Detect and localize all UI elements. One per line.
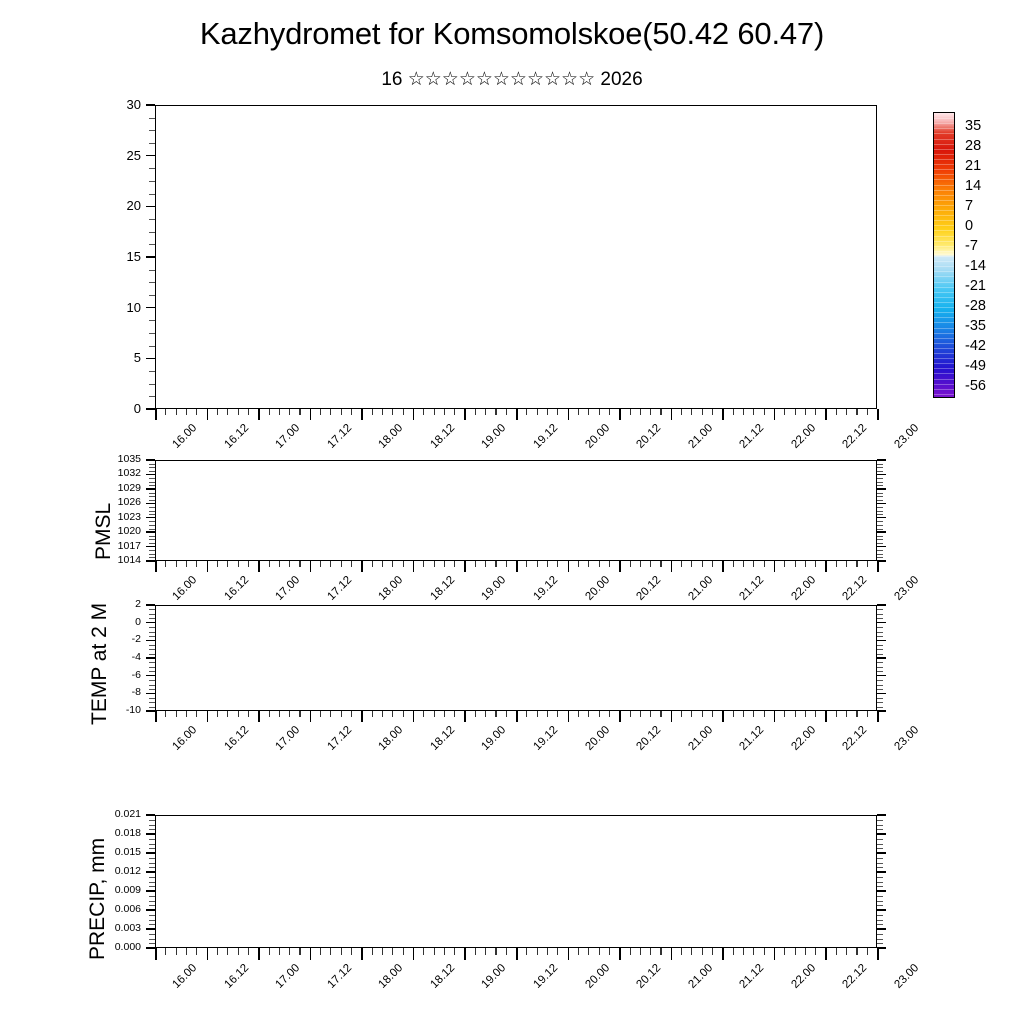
y-axis-minor-tick-right [877, 915, 883, 916]
x-axis-minor-tick [423, 561, 424, 567]
colorbar-band-line [934, 348, 954, 349]
x-axis-tick [774, 409, 776, 420]
x-axis-minor-tick [289, 561, 290, 567]
y-axis-minor-tick [149, 614, 155, 615]
y-axis-minor-tick [149, 680, 155, 681]
y-axis-label: 15 [117, 251, 141, 262]
y-axis-label: 0.006 [99, 904, 141, 915]
x-axis-tick [722, 561, 724, 572]
x-axis-label: 18.12 [428, 574, 457, 603]
x-axis-minor-tick [217, 711, 218, 717]
y-axis-minor-tick-right [877, 820, 883, 821]
colorbar-band-line [934, 174, 954, 175]
x-axis-label: 21.12 [738, 574, 767, 603]
y-axis-minor-tick-right [877, 654, 883, 655]
colorbar-band-line [934, 394, 954, 395]
colorbar-band-line [934, 333, 954, 334]
y-axis-minor-tick [149, 539, 155, 540]
x-axis-minor-tick [289, 948, 290, 955]
x-axis-minor-tick [733, 561, 734, 567]
y-axis-minor-tick-right [877, 482, 883, 483]
y-axis-minor-tick-right [877, 618, 883, 619]
x-axis-minor-tick [681, 561, 682, 567]
x-axis-minor-tick [712, 948, 713, 955]
y-axis-label: -6 [111, 670, 141, 681]
x-axis-minor-tick [733, 409, 734, 415]
x-axis-minor-tick [815, 409, 816, 415]
x-axis-minor-tick [681, 711, 682, 717]
x-axis-minor-tick [764, 561, 765, 567]
x-axis-tick [310, 711, 312, 722]
x-axis-tick [825, 409, 827, 420]
x-axis-minor-tick [279, 409, 280, 415]
x-axis-minor-tick [599, 711, 600, 717]
y-axis-minor-tick-right [877, 464, 883, 465]
y-axis-tick [146, 408, 155, 409]
x-axis-label: 17.12 [325, 574, 354, 603]
x-axis-minor-tick [196, 711, 197, 717]
x-axis-minor-tick [444, 561, 445, 567]
y-axis-minor-tick [149, 478, 155, 479]
x-axis-minor-tick [691, 409, 692, 415]
y-axis-tick [146, 604, 155, 605]
y-axis-minor-tick-right [877, 882, 883, 883]
subtitle-date: 16 ☆☆☆☆☆☆☆☆☆☆☆ 2026 [0, 68, 1024, 91]
x-axis-label: 19.12 [531, 962, 560, 991]
y-axis-tick-right [877, 517, 886, 518]
colorbar-tick-label: -56 [965, 378, 986, 394]
x-axis-label: 19.00 [480, 422, 509, 451]
x-axis-minor-tick [372, 711, 373, 717]
x-axis-minor-tick [578, 409, 579, 415]
y-axis-minor-tick [149, 554, 155, 555]
y-axis-minor-tick [149, 627, 155, 628]
y-axis-tick-right [877, 693, 886, 694]
x-axis-tick [774, 948, 776, 960]
x-axis-minor-tick [475, 409, 476, 415]
y-axis-minor-tick-right [877, 685, 883, 686]
y-axis-minor-tick [149, 536, 155, 537]
x-axis-tick [516, 948, 518, 960]
x-axis-tick [207, 409, 209, 420]
y-axis-tick-right [877, 675, 886, 676]
x-axis-minor-tick [454, 711, 455, 717]
x-axis-minor-tick [238, 561, 239, 567]
y-axis-minor-tick [149, 244, 155, 245]
x-axis-minor-tick [320, 711, 321, 717]
colorbar-band-line [934, 225, 954, 226]
colorbar-band-line [934, 118, 954, 119]
x-axis-minor-tick [764, 711, 765, 717]
y-axis-minor-tick [149, 689, 155, 690]
x-axis-minor-tick [506, 409, 507, 415]
y-axis-minor-tick-right [877, 649, 883, 650]
x-axis-label: 16.00 [170, 574, 199, 603]
x-axis-minor-tick [764, 409, 765, 415]
x-axis-minor-tick [753, 409, 754, 415]
y-axis-tick-right [877, 488, 886, 489]
cross-section-frame [155, 105, 877, 409]
x-axis-label: 19.00 [480, 724, 509, 753]
y-axis-minor-tick [149, 901, 155, 902]
x-axis-minor-tick [702, 711, 703, 717]
weather-forecast-chart: Kazhydromet for Komsomolskoe(50.42 60.47… [0, 0, 1024, 1024]
y-axis-tick [146, 358, 155, 359]
y-axis-label: 0.018 [99, 828, 141, 839]
y-axis-tick [146, 871, 155, 872]
y-axis-minor-tick-right [877, 939, 883, 940]
colorbar [933, 112, 955, 398]
x-axis-minor-tick [867, 409, 868, 415]
x-axis-tick [671, 561, 673, 572]
y-axis-tick-right [877, 657, 886, 658]
y-axis-minor-tick [149, 396, 155, 397]
y-axis-minor-tick-right [877, 496, 883, 497]
x-axis-tick [516, 561, 518, 572]
x-axis-label: 19.00 [480, 962, 509, 991]
x-axis-minor-tick [444, 948, 445, 955]
x-axis-minor-tick [372, 409, 373, 415]
x-axis-label: 22.12 [841, 724, 870, 753]
x-axis-minor-tick [691, 948, 692, 955]
pmsl-frame [155, 460, 877, 561]
y-axis-tick [146, 833, 155, 834]
x-axis-label: 21.12 [738, 962, 767, 991]
colorbar-band-line [934, 384, 954, 385]
x-axis-minor-tick [454, 948, 455, 955]
y-axis-tick-right [877, 531, 886, 532]
x-axis-minor-tick [702, 948, 703, 955]
y-axis-minor-tick [149, 867, 155, 868]
colorbar-tick-label: 14 [965, 178, 981, 194]
y-axis-minor-tick-right [877, 525, 883, 526]
colorbar-band-line [934, 128, 954, 129]
x-axis-minor-tick [733, 948, 734, 955]
x-axis-tick [310, 409, 312, 420]
colorbar-band-line [934, 373, 954, 374]
x-axis-minor-tick [743, 561, 744, 567]
colorbar-band-line [934, 215, 954, 216]
x-axis-tick [155, 561, 157, 572]
y-axis-minor-tick [149, 820, 155, 821]
y-axis-minor-tick [149, 485, 155, 486]
y-axis-label: 1029 [107, 483, 141, 494]
x-axis-minor-tick [506, 948, 507, 955]
x-axis-tick [568, 948, 570, 960]
x-axis-label: 19.00 [480, 574, 509, 603]
colorbar-band-line [934, 302, 954, 303]
x-axis-tick [671, 948, 673, 960]
y-axis-label: 1026 [107, 497, 141, 508]
x-axis-minor-tick [784, 948, 785, 955]
x-axis-label: 17.00 [274, 574, 303, 603]
x-axis-minor-tick [526, 561, 527, 567]
x-axis-minor-tick [392, 409, 393, 415]
x-axis-minor-tick [227, 561, 228, 567]
x-axis-minor-tick [289, 711, 290, 717]
colorbar-band-line [934, 164, 954, 165]
x-axis-tick [413, 409, 415, 420]
x-axis-minor-tick [630, 948, 631, 955]
x-axis-minor-tick [578, 561, 579, 567]
x-axis-minor-tick [279, 948, 280, 955]
x-axis-minor-tick [341, 561, 342, 567]
x-axis-label: 20.12 [635, 422, 664, 451]
x-axis-label: 18.12 [428, 962, 457, 991]
x-axis-label: 22.12 [841, 962, 870, 991]
colorbar-band-line [934, 190, 954, 191]
x-axis-label: 22.12 [841, 422, 870, 451]
x-axis-tick [207, 561, 209, 572]
temp-frame [155, 605, 877, 711]
y-axis-minor-tick [149, 511, 155, 512]
x-axis-minor-tick [588, 561, 589, 567]
y-axis-tick [146, 531, 155, 532]
colorbar-tick-label: 7 [965, 198, 973, 214]
x-axis-label: 20.00 [583, 724, 612, 753]
y-axis-minor-tick-right [877, 609, 883, 610]
x-axis-label: 21.12 [738, 724, 767, 753]
y-axis-minor-tick-right [877, 680, 883, 681]
y-axis-minor-tick-right [877, 485, 883, 486]
y-axis-tick [146, 307, 155, 308]
x-axis-minor-tick [846, 948, 847, 955]
y-axis-tick-right [877, 546, 886, 547]
colorbar-band-line [934, 276, 954, 277]
x-axis-minor-tick [815, 561, 816, 567]
x-axis-tick [361, 948, 363, 960]
y-axis-minor-tick-right [877, 627, 883, 628]
x-axis-minor-tick [867, 561, 868, 567]
y-axis-tick-right [877, 890, 886, 891]
x-axis-label: 23.00 [892, 422, 921, 451]
x-axis-minor-tick [299, 561, 300, 567]
y-axis-minor-tick [149, 543, 155, 544]
colorbar-band-line [934, 246, 954, 247]
colorbar-band-line [934, 205, 954, 206]
x-axis-minor-tick [485, 948, 486, 955]
x-axis-label: 16.00 [170, 724, 199, 753]
x-axis-minor-tick [403, 948, 404, 955]
y-axis-minor-tick-right [877, 478, 883, 479]
x-axis-tick [722, 948, 724, 960]
x-axis-minor-tick [217, 948, 218, 955]
x-axis-label: 21.00 [686, 574, 715, 603]
x-axis-minor-tick [299, 409, 300, 415]
y-axis-minor-tick [149, 618, 155, 619]
colorbar-band-line [934, 389, 954, 390]
y-axis-minor-tick-right [877, 667, 883, 668]
x-axis-minor-tick [176, 561, 177, 567]
x-axis-label: 16.12 [222, 724, 251, 753]
y-axis-minor-tick [149, 915, 155, 916]
y-axis-minor-tick-right [877, 536, 883, 537]
x-axis-minor-tick [485, 561, 486, 567]
x-axis-tick [310, 561, 312, 572]
y-axis-minor-tick-right [877, 521, 883, 522]
subtitle-year: 2026 [600, 69, 642, 90]
y-axis-label: 0.012 [99, 866, 141, 877]
colorbar-band-line [934, 379, 954, 380]
y-axis-minor-tick-right [877, 632, 883, 633]
y-axis-minor-tick [149, 609, 155, 610]
x-axis-tick [413, 948, 415, 960]
x-axis-minor-tick [660, 409, 661, 415]
y-axis-minor-tick [149, 384, 155, 385]
x-axis-label: 18.00 [377, 962, 406, 991]
page-title: Kazhydromet for Komsomolskoe(50.42 60.47… [0, 16, 1024, 52]
colorbar-band-line [934, 154, 954, 155]
y-axis-minor-tick [149, 858, 155, 859]
x-axis-minor-tick [320, 561, 321, 567]
y-axis-tick [146, 488, 155, 489]
y-axis-minor-tick-right [877, 662, 883, 663]
x-axis-minor-tick [227, 948, 228, 955]
x-axis-label: 16.12 [222, 574, 251, 603]
y-axis-label: 1023 [107, 512, 141, 523]
y-axis-tick-right [877, 909, 886, 910]
y-axis-label: 2 [111, 599, 141, 610]
x-axis-minor-tick [176, 711, 177, 717]
x-axis-minor-tick [227, 711, 228, 717]
colorbar-tick-label: -14 [965, 258, 986, 274]
x-axis-tick [825, 711, 827, 722]
x-axis-tick [258, 409, 260, 420]
y-axis-minor-tick [149, 920, 155, 921]
x-axis-minor-tick [485, 711, 486, 717]
y-axis-minor-tick-right [877, 707, 883, 708]
x-axis-tick [671, 711, 673, 722]
y-axis-minor-tick [149, 662, 155, 663]
x-axis-label: 23.00 [892, 724, 921, 753]
x-axis-label: 17.12 [325, 724, 354, 753]
colorbar-band-line [934, 358, 954, 359]
y-axis-minor-tick [149, 525, 155, 526]
x-axis-minor-tick [764, 948, 765, 955]
x-axis-minor-tick [495, 711, 496, 717]
y-axis-minor-tick-right [877, 493, 883, 494]
colorbar-band-line [934, 159, 954, 160]
x-axis-minor-tick [330, 561, 331, 567]
x-axis-minor-tick [681, 409, 682, 415]
y-axis-tick [146, 657, 155, 658]
colorbar-band-line [934, 169, 954, 170]
y-axis-minor-tick [149, 825, 155, 826]
y-axis-tick [146, 640, 155, 641]
x-axis-minor-tick [630, 409, 631, 415]
x-axis-label: 17.12 [325, 962, 354, 991]
y-axis-minor-tick-right [877, 844, 883, 845]
x-axis-minor-tick [238, 711, 239, 717]
colorbar-band-line [934, 353, 954, 354]
x-axis-label: 16.12 [222, 962, 251, 991]
x-axis-minor-tick [495, 948, 496, 955]
x-axis-tick [516, 711, 518, 722]
x-axis-minor-tick [423, 711, 424, 717]
colorbar-band-line [934, 266, 954, 267]
x-axis-minor-tick [526, 711, 527, 717]
y-axis-minor-tick [149, 514, 155, 515]
y-axis-tick-right [877, 852, 886, 853]
x-axis-minor-tick [795, 711, 796, 717]
x-axis-tick [671, 409, 673, 420]
y-axis-tick [146, 503, 155, 504]
y-axis-minor-tick-right [877, 886, 883, 887]
y-axis-minor-tick-right [877, 557, 883, 558]
x-axis-minor-tick [382, 948, 383, 955]
x-axis-minor-tick [537, 409, 538, 415]
subtitle-day: 16 [381, 69, 402, 90]
x-axis-label: 17.00 [274, 422, 303, 451]
colorbar-tick-label: 28 [965, 138, 981, 154]
colorbar-band-line [934, 179, 954, 180]
x-axis-tick [155, 711, 157, 722]
x-axis-minor-tick [269, 948, 270, 955]
y-axis-label: -4 [111, 652, 141, 663]
y-axis-tick [146, 947, 155, 948]
x-axis-label: 17.12 [325, 422, 354, 451]
x-axis-label: 22.00 [789, 574, 818, 603]
y-axis-minor-tick [149, 645, 155, 646]
x-axis-minor-tick [660, 711, 661, 717]
x-axis-minor-tick [557, 561, 558, 567]
x-axis-label: 23.00 [892, 962, 921, 991]
y-axis-tick-right [877, 474, 886, 475]
y-axis-minor-tick [149, 896, 155, 897]
x-axis-minor-tick [454, 561, 455, 567]
x-axis-tick [207, 711, 209, 722]
x-axis-minor-tick [434, 711, 435, 717]
x-axis-minor-tick [351, 711, 352, 717]
y-axis-minor-tick-right [877, 507, 883, 508]
y-axis-minor-tick [149, 557, 155, 558]
y-axis-minor-tick [149, 333, 155, 334]
x-axis-tick [774, 561, 776, 572]
y-axis-minor-tick-right [877, 825, 883, 826]
y-axis-label: 30 [117, 99, 141, 110]
y-axis-minor-tick [149, 130, 155, 131]
x-axis-minor-tick [269, 409, 270, 415]
x-axis-tick [464, 711, 466, 722]
y-axis-minor-tick-right [877, 471, 883, 472]
colorbar-band-line [934, 185, 954, 186]
x-axis-label: 20.12 [635, 962, 664, 991]
x-axis-minor-tick [805, 948, 806, 955]
x-axis-label: 16.00 [170, 422, 199, 451]
x-axis-minor-tick [186, 561, 187, 567]
colorbar-tick-label: -49 [965, 358, 986, 374]
x-axis-minor-tick [434, 948, 435, 955]
x-axis-minor-tick [815, 948, 816, 955]
x-axis-label: 20.12 [635, 724, 664, 753]
x-axis-minor-tick [454, 409, 455, 415]
y-axis-label: 1020 [107, 526, 141, 537]
y-axis-minor-tick [149, 877, 155, 878]
y-axis-minor-tick-right [877, 858, 883, 859]
x-axis-label: 22.00 [789, 962, 818, 991]
y-axis-label: 0.009 [99, 885, 141, 896]
y-axis-minor-tick-right [877, 867, 883, 868]
x-axis-minor-tick [547, 711, 548, 717]
y-axis-minor-tick-right [877, 901, 883, 902]
y-axis-tick [146, 710, 155, 711]
x-axis-minor-tick [599, 948, 600, 955]
y-axis-minor-tick [149, 181, 155, 182]
x-axis-minor-tick [547, 948, 548, 955]
y-axis-minor-tick [149, 698, 155, 699]
y-axis-label: 1035 [107, 454, 141, 465]
x-axis-tick [207, 948, 209, 960]
